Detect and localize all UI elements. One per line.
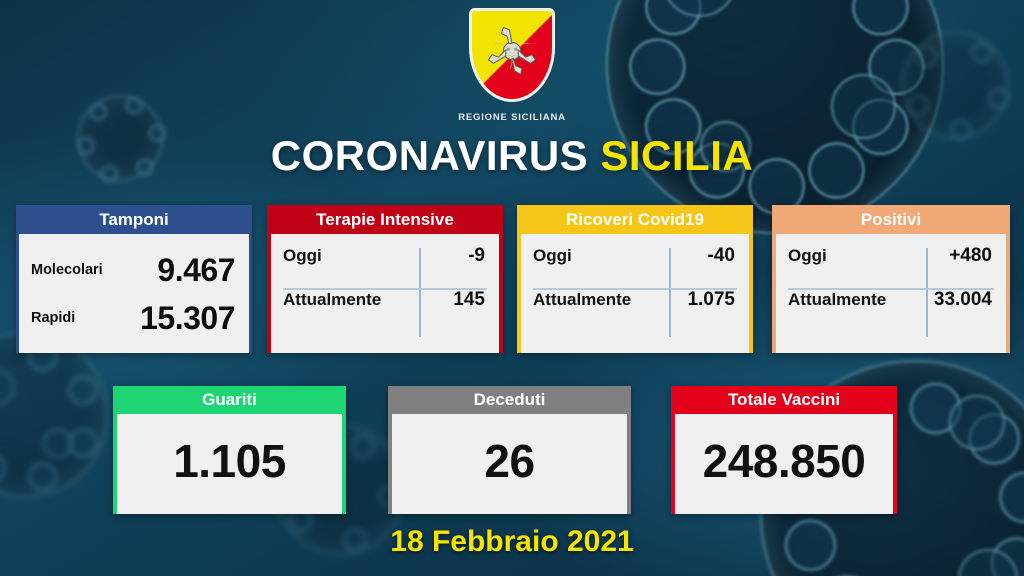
stat-card-guariti: Guariti 1.105 bbox=[113, 386, 346, 514]
card-title-terapie-intensive: Terapie Intensive bbox=[271, 205, 499, 234]
stat-label-rapidi: Rapidi bbox=[31, 310, 75, 326]
stat-card-positivi: Positivi Oggi +480 Attualmente 33.004 bbox=[772, 205, 1010, 353]
stat-label-oggi: Oggi bbox=[283, 246, 322, 266]
crest-caption: REGIONE SICILIANA bbox=[0, 112, 1024, 123]
stat-label-attualmente: Attualmente bbox=[283, 290, 381, 310]
stat-card-totale-vaccini: Totale Vaccini 248.850 bbox=[671, 386, 897, 514]
stat-value-molecolari: 9.467 bbox=[157, 252, 235, 289]
stat-value-oggi: +480 bbox=[949, 245, 994, 267]
title-main: CORONAVIRUS bbox=[271, 132, 588, 179]
title-highlight: SICILIA bbox=[600, 132, 753, 179]
stat-value-oggi: -9 bbox=[468, 245, 487, 267]
page-title: CORONAVIRUS SICILIA bbox=[0, 132, 1024, 180]
stat-value-totale-vaccini: 248.850 bbox=[703, 438, 866, 484]
stat-value-attualmente: 33.004 bbox=[934, 289, 994, 311]
card-title-guariti: Guariti bbox=[117, 386, 342, 414]
stat-value-attualmente: 1.075 bbox=[687, 289, 737, 311]
stat-value-rapidi: 15.307 bbox=[140, 300, 235, 337]
card-title-positivi: Positivi bbox=[776, 205, 1006, 234]
card-body-positivi: Oggi +480 Attualmente 33.004 bbox=[776, 234, 1006, 353]
card-body-deceduti: 26 bbox=[392, 414, 627, 514]
stat-value-guariti: 1.105 bbox=[173, 438, 286, 484]
regione-siciliana-crest: REGIONE SICILIANA bbox=[0, 8, 1024, 123]
stat-row-oggi: Oggi -9 bbox=[283, 234, 487, 278]
stat-row-molecolari: Molecolari 9.467 bbox=[31, 246, 235, 294]
infographic-canvas: REGIONE SICILIANA CORONAVIRUS SICILIA Ta… bbox=[0, 0, 1024, 576]
stat-label-molecolari: Molecolari bbox=[31, 262, 103, 278]
stat-row-attualmente: Attualmente 33.004 bbox=[788, 278, 994, 322]
card-title-totale-vaccini: Totale Vaccini bbox=[675, 386, 893, 414]
card-body-ricoveri-covid19: Oggi -40 Attualmente 1.075 bbox=[521, 234, 749, 353]
stat-row-oggi: Oggi +480 bbox=[788, 234, 994, 278]
stat-row-attualmente: Attualmente 145 bbox=[283, 278, 487, 322]
stat-card-deceduti: Deceduti 26 bbox=[388, 386, 631, 514]
card-body-terapie-intensive: Oggi -9 Attualmente 145 bbox=[271, 234, 499, 353]
stat-value-deceduti: 26 bbox=[484, 438, 534, 484]
trinacria-emblem-icon bbox=[481, 20, 543, 82]
stat-label-attualmente: Attualmente bbox=[788, 290, 886, 310]
card-body-guariti: 1.105 bbox=[117, 414, 342, 514]
card-title-tamponi: Tamponi bbox=[19, 205, 249, 234]
stat-label-oggi: Oggi bbox=[788, 246, 827, 266]
report-date: 18 Febbraio 2021 bbox=[0, 525, 1024, 559]
trinacria-shield-icon bbox=[469, 8, 555, 102]
stat-card-terapie-intensive: Terapie Intensive Oggi -9 Attualmente 14… bbox=[267, 205, 503, 353]
stat-label-attualmente: Attualmente bbox=[533, 290, 631, 310]
card-body-totale-vaccini: 248.850 bbox=[675, 414, 893, 514]
stat-card-ricoveri-covid19: Ricoveri Covid19 Oggi -40 Attualmente 1.… bbox=[517, 205, 753, 353]
stat-label-oggi: Oggi bbox=[533, 246, 572, 266]
card-title-deceduti: Deceduti bbox=[392, 386, 627, 414]
stat-value-attualmente: 145 bbox=[453, 289, 487, 311]
stat-card-tamponi: Tamponi Molecolari 9.467 Rapidi 15.307 bbox=[16, 205, 252, 353]
stat-value-oggi: -40 bbox=[708, 245, 737, 267]
stat-row-attualmente: Attualmente 1.075 bbox=[533, 278, 737, 322]
stat-row-oggi: Oggi -40 bbox=[533, 234, 737, 278]
card-body-tamponi: Molecolari 9.467 Rapidi 15.307 bbox=[19, 234, 249, 353]
stat-row-rapidi: Rapidi 15.307 bbox=[31, 294, 235, 342]
card-title-ricoveri-covid19: Ricoveri Covid19 bbox=[521, 205, 749, 234]
